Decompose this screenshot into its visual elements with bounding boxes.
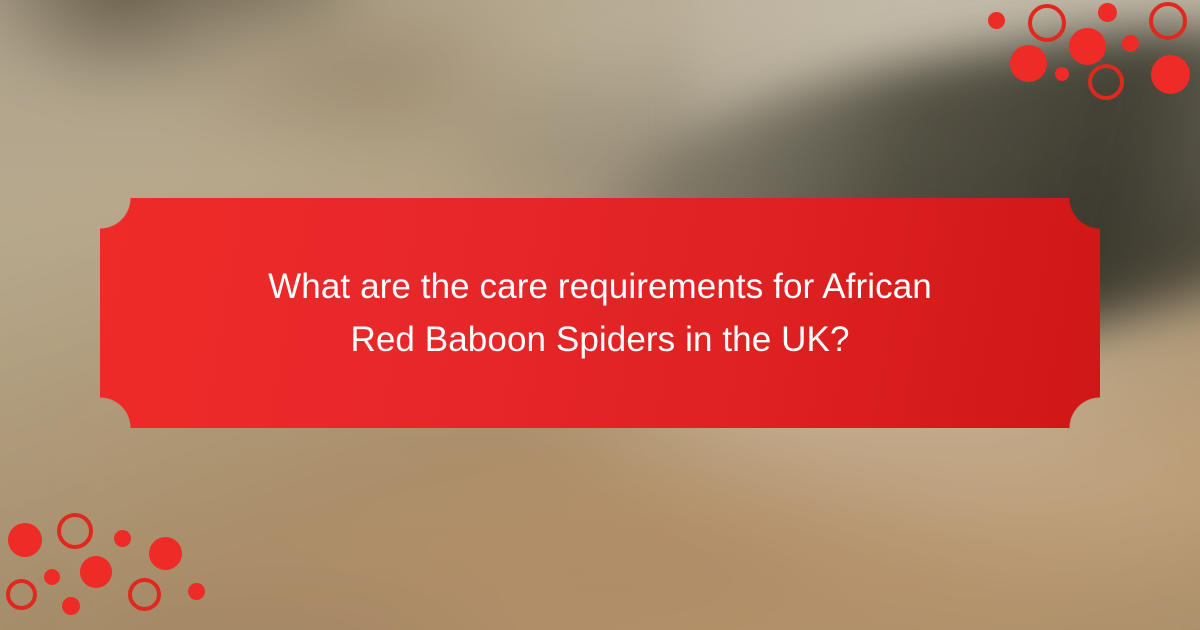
title-banner: What are the care requirements for Afric…	[100, 198, 1100, 428]
page-title: What are the care requirements for Afric…	[230, 260, 970, 366]
